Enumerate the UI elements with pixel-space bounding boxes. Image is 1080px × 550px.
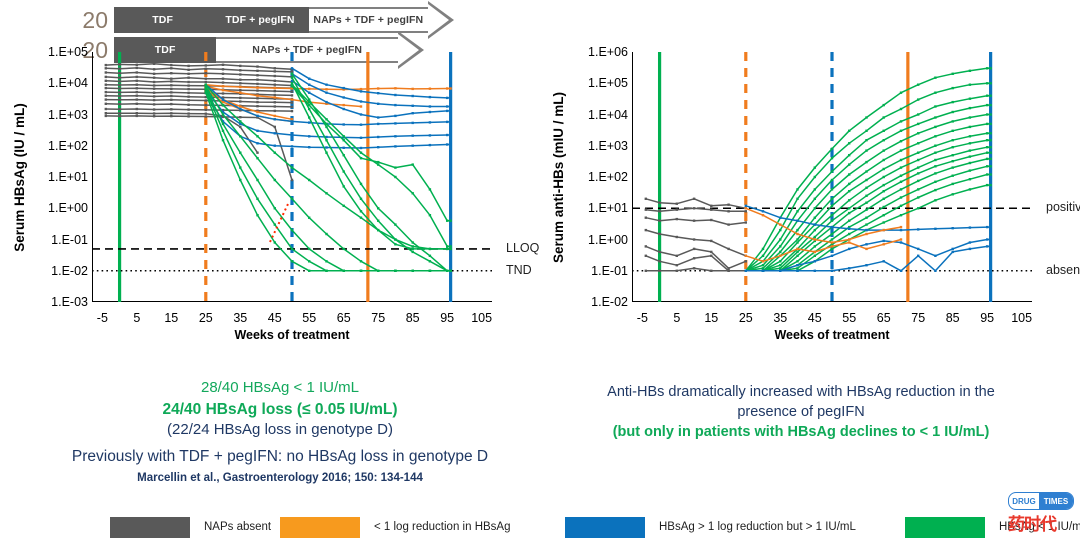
x-tick-label: 75 <box>371 311 385 325</box>
legend-swatch <box>905 517 985 538</box>
x-tick-label: 45 <box>808 311 822 325</box>
right-x-axis-label: Weeks of treatment <box>632 328 1032 342</box>
legend-label: NAPs absent <box>204 521 271 533</box>
chart-panel-antihbs: Serum anti-HBs (mIU / mL) 1.E+061.E+051.… <box>548 52 1068 352</box>
watermark-chinese-text: 药时代 <box>1008 510 1056 535</box>
treatment-arm-1: 20 TDF TDF + pegIFN NAPs + TDF + pegIFN <box>78 6 428 34</box>
x-tick-label: 65 <box>337 311 351 325</box>
legend-item: < 1 log reduction in HBsAg <box>280 516 510 538</box>
left-x-axis-label: Weeks of treatment <box>92 328 492 342</box>
right-y-ticks: 1.E+061.E+051.E+041.E+031.E+021.E+011.E+… <box>566 52 628 302</box>
watermark-pill: DRUG TIMES <box>1008 492 1074 510</box>
y-tick-label: 1.E+05 <box>588 76 628 90</box>
absent-label: absent <box>1046 263 1080 277</box>
chart-panel-hbsag: Serum HBsAg (IU / mL) 1.E+051.E+041.E+03… <box>8 52 528 352</box>
x-tick-label: -5 <box>97 311 108 325</box>
x-tick-label: -5 <box>637 311 648 325</box>
y-tick-label: 1.E+06 <box>588 45 628 59</box>
left-caption-line-1: 28/40 HBsAg < 1 IU/mL <box>30 378 530 399</box>
y-tick-label: 1.E-01 <box>591 264 628 278</box>
left-caption-line-2: 24/40 HBsAg loss (≤ 0.05 IU/mL) <box>30 399 530 420</box>
x-tick-label: 25 <box>199 311 213 325</box>
legend-swatch <box>110 517 190 538</box>
x-tick-label: 105 <box>471 311 492 325</box>
y-tick-label: 1.E+01 <box>588 201 628 215</box>
x-tick-label: 15 <box>704 311 718 325</box>
figure-root: 20 TDF TDF + pegIFN NAPs + TDF + pegIFN … <box>0 0 1080 550</box>
x-tick-label: 65 <box>877 311 891 325</box>
legend-item: NAPs absent <box>110 516 271 538</box>
y-tick-label: 1.E+02 <box>48 139 88 153</box>
arm-1-seg-tdf-pegifn: TDF + pegIFN <box>211 7 308 33</box>
x-tick-label: 85 <box>406 311 420 325</box>
legend-item: HBsAg > 1 log reduction but > 1 IU/mL <box>565 516 856 538</box>
reference-citation: Marcellin et al., Gastroenterology 2016;… <box>10 472 550 484</box>
y-tick-label: 1.E+00 <box>48 201 88 215</box>
right-x-ticks: -55152535455565758595105 <box>632 306 1032 328</box>
red-dotted-marker <box>270 204 288 242</box>
right-caption-line-2: presence of pegIFN <box>522 402 1080 422</box>
y-tick-label: 1.E+01 <box>48 170 88 184</box>
y-tick-label: 1.E-03 <box>51 295 88 309</box>
y-tick-label: 1.E-01 <box>51 233 88 247</box>
arm-1-seg-naps-tdf-pegifn: NAPs + TDF + pegIFN <box>309 7 428 33</box>
left-plot-area <box>92 52 492 302</box>
x-tick-label: 15 <box>164 311 178 325</box>
x-tick-label: 75 <box>911 311 925 325</box>
x-tick-label: 5 <box>133 311 140 325</box>
y-tick-label: 1.E+04 <box>588 108 628 122</box>
legend-label: HBsAg > 1 log reduction but > 1 IU/mL <box>659 521 856 533</box>
chart-legend: NAPs absent< 1 log reduction in HBsAgHBs… <box>0 516 1080 542</box>
y-tick-label: 1.E+03 <box>588 139 628 153</box>
previous-finding-text: Previously with TDF + pegIFN: no HBsAg l… <box>10 448 550 466</box>
legend-swatch <box>280 517 360 538</box>
arm-1-body: TDF TDF + pegIFN NAPs + TDF + pegIFN <box>114 7 428 33</box>
right-caption: Anti-HBs dramatically increased with HBs… <box>522 382 1080 442</box>
watermark-drug-text: DRUG <box>1009 493 1039 509</box>
left-x-ticks: -55152535455565758595105 <box>92 306 492 328</box>
x-tick-label: 85 <box>946 311 960 325</box>
arm-1-arrowhead-inner <box>428 4 449 36</box>
x-tick-label: 5 <box>673 311 680 325</box>
left-caption: 28/40 HBsAg < 1 IU/mL 24/40 HBsAg loss (… <box>30 378 530 441</box>
x-tick-label: 25 <box>739 311 753 325</box>
left-caption-line-3: (22/24 HBsAg loss in genotype D) <box>30 420 530 441</box>
y-tick-label: 1.E+00 <box>588 233 628 247</box>
lloq-label: LLOQ <box>506 241 539 255</box>
x-tick-label: 45 <box>268 311 282 325</box>
arm-1-seg-tdf: TDF <box>114 7 211 33</box>
y-tick-label: 1.E+03 <box>48 108 88 122</box>
right-caption-line-3: (but only in patients with HBsAg decline… <box>522 422 1080 442</box>
arm-1-count: 20 <box>78 9 108 32</box>
watermark-times-text: TIMES <box>1039 493 1073 509</box>
tnd-label: TND <box>506 263 532 277</box>
x-tick-label: 95 <box>980 311 994 325</box>
y-tick-label: 1.E-02 <box>51 264 88 278</box>
x-tick-label: 35 <box>773 311 787 325</box>
left-y-ticks: 1.E+051.E+041.E+031.E+021.E+011.E+001.E-… <box>26 52 88 302</box>
drugtimes-watermark: DRUG TIMES 药时代 <box>1008 492 1074 542</box>
y-tick-label: 1.E+02 <box>588 170 628 184</box>
x-tick-label: 55 <box>842 311 856 325</box>
y-tick-label: 1.E+04 <box>48 76 88 90</box>
legend-swatch <box>565 517 645 538</box>
legend-label: < 1 log reduction in HBsAg <box>374 521 510 533</box>
x-tick-label: 105 <box>1011 311 1032 325</box>
y-tick-label: 1.E+05 <box>48 45 88 59</box>
x-tick-label: 35 <box>233 311 247 325</box>
x-tick-label: 55 <box>302 311 316 325</box>
right-plot-area <box>632 52 1032 302</box>
right-caption-line-1: Anti-HBs dramatically increased with HBs… <box>522 382 1080 402</box>
positive-label: positive <box>1046 200 1080 214</box>
y-tick-label: 1.E-02 <box>591 295 628 309</box>
x-tick-label: 95 <box>440 311 454 325</box>
